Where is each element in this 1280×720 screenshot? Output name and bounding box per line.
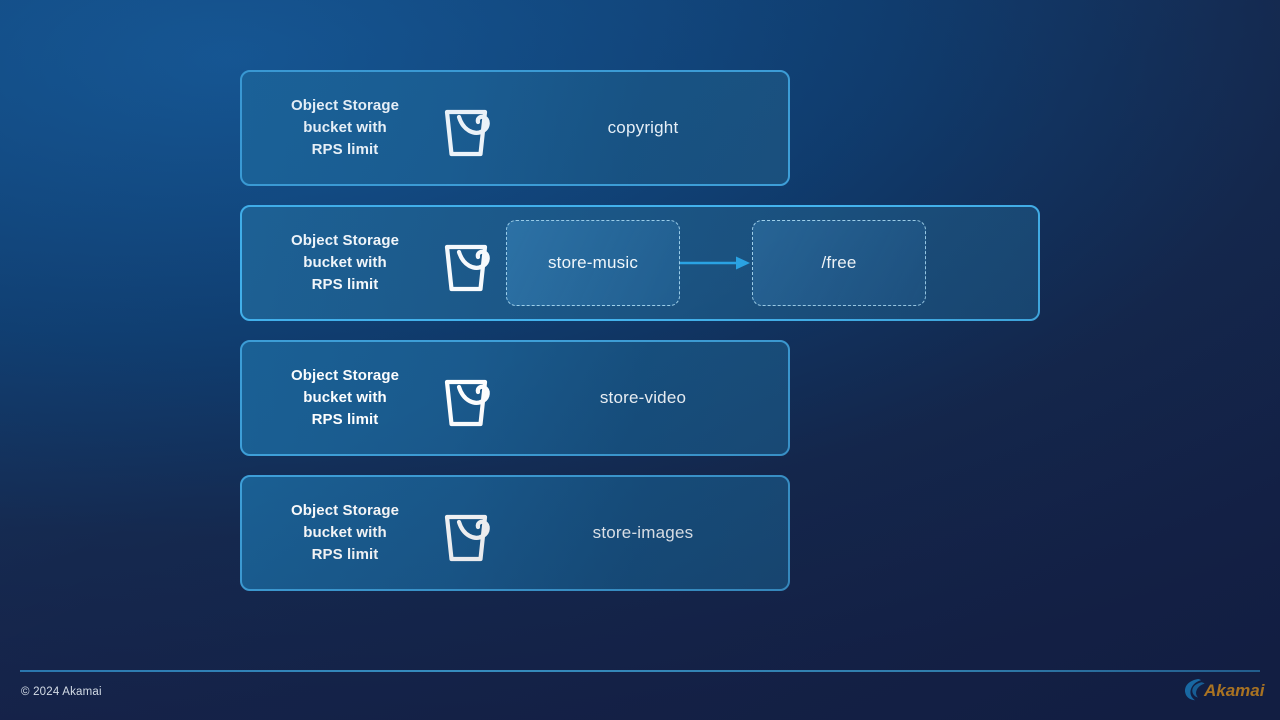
bucket-row[interactable]: Object Storage bucket with RPS limit sto…: [240, 475, 790, 591]
bucket-row[interactable]: Object Storage bucket with RPS limit sto…: [240, 205, 1040, 321]
bucket-icon: [428, 97, 506, 159]
bucket-row-label-line: RPS limit: [262, 139, 428, 161]
akamai-logo-mark: Akamai: [1182, 676, 1266, 702]
akamai-logo: Akamai: [1182, 676, 1266, 702]
chip-free-path[interactable]: /free: [752, 220, 926, 306]
bucket-row-label-line: RPS limit: [262, 544, 428, 566]
bucket-row-label-line: RPS limit: [262, 409, 428, 431]
arrow-right-icon: [680, 220, 752, 306]
bucket-row-label-line: bucket with: [262, 522, 428, 544]
bucket-row-label-line: RPS limit: [262, 274, 428, 296]
copyright-text: © 2024 Akamai: [21, 686, 102, 698]
bucket-row-label: Object Storage bucket with RPS limit: [242, 95, 428, 161]
bucket-row-label-line: bucket with: [262, 387, 428, 409]
bucket-row-label-line: Object Storage: [262, 500, 428, 522]
svg-text:Akamai: Akamai: [1203, 681, 1266, 700]
chip-store-music[interactable]: store-music: [506, 220, 680, 306]
bucket-icon: [428, 232, 506, 294]
bucket-row[interactable]: Object Storage bucket with RPS limit cop…: [240, 70, 790, 186]
bucket-row-value: store-images: [506, 523, 788, 543]
bucket-row-value: copyright: [506, 118, 788, 138]
bucket-row-label-line: Object Storage: [262, 230, 428, 252]
bucket-row-label-line: bucket with: [262, 117, 428, 139]
bucket-icon: [428, 367, 506, 429]
bucket-row-label: Object Storage bucket with RPS limit: [242, 230, 428, 296]
bucket-row-chips: store-music /free: [506, 220, 1038, 306]
bucket-row-value: store-video: [506, 388, 788, 408]
bucket-row-label-line: Object Storage: [262, 365, 428, 387]
bucket-row-label-line: Object Storage: [262, 95, 428, 117]
bucket-row[interactable]: Object Storage bucket with RPS limit sto…: [240, 340, 790, 456]
footer-divider: [20, 670, 1260, 672]
bucket-icon: [428, 502, 506, 564]
bucket-row-list: Object Storage bucket with RPS limit cop…: [240, 70, 1040, 610]
bucket-row-label-line: bucket with: [262, 252, 428, 274]
bucket-row-label: Object Storage bucket with RPS limit: [242, 500, 428, 566]
bucket-row-label: Object Storage bucket with RPS limit: [242, 365, 428, 431]
slide-canvas: Object Storage bucket with RPS limit cop…: [0, 0, 1280, 720]
